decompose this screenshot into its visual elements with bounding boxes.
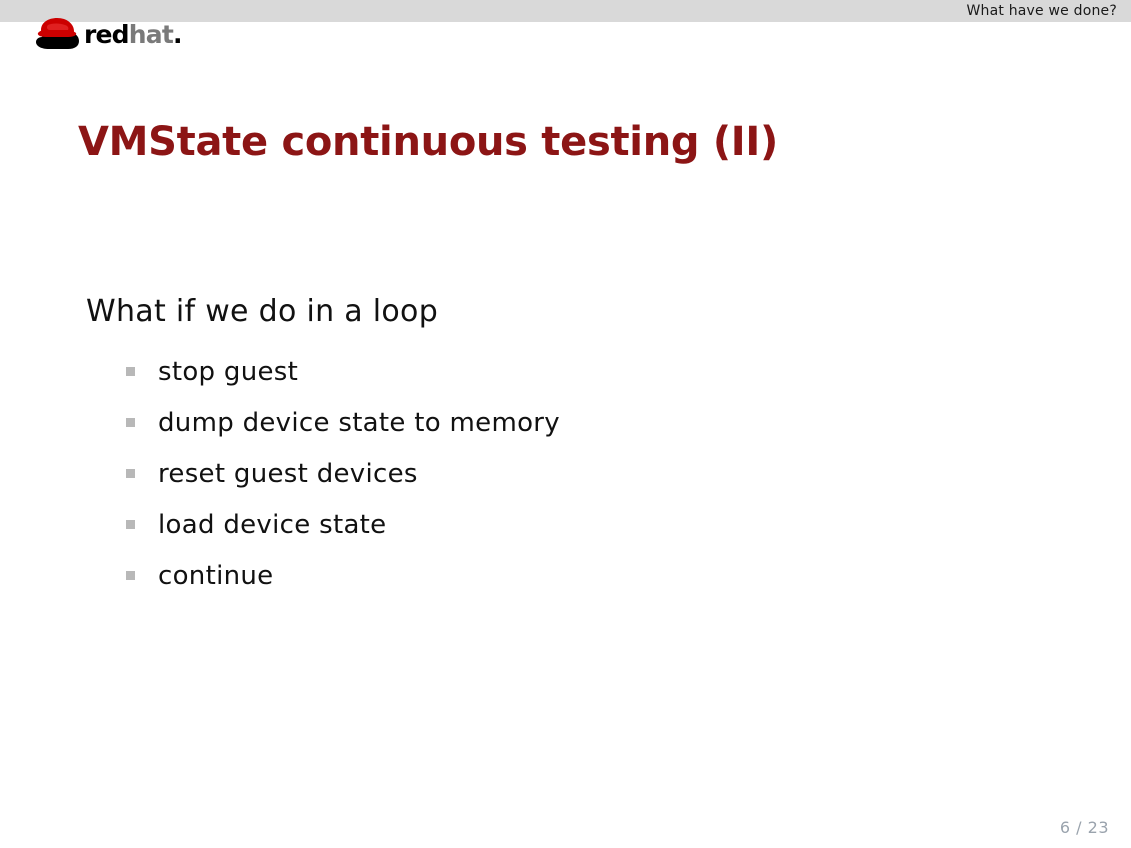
square-bullet-icon	[126, 520, 135, 529]
page-number: 6 / 23	[1060, 818, 1109, 838]
list-item: continue	[126, 559, 560, 610]
slide-body: What if we do in a loop stop guest dump …	[0, 0, 1131, 848]
square-bullet-icon	[126, 469, 135, 478]
list-item-label: dump device state to memory	[158, 406, 560, 440]
bullet-list: stop guest dump device state to memory r…	[126, 355, 560, 610]
list-item-label: stop guest	[158, 355, 298, 389]
list-item: reset guest devices	[126, 457, 560, 508]
list-item: dump device state to memory	[126, 406, 560, 457]
square-bullet-icon	[126, 367, 135, 376]
square-bullet-icon	[126, 571, 135, 580]
list-item-label: reset guest devices	[158, 457, 418, 491]
list-item-label: load device state	[158, 508, 386, 542]
presentation-slide: What have we done? redhat. VMState conti…	[0, 0, 1131, 848]
square-bullet-icon	[126, 418, 135, 427]
list-item: load device state	[126, 508, 560, 559]
lead-statement: What if we do in a loop	[86, 292, 438, 332]
list-item: stop guest	[126, 355, 560, 406]
list-item-label: continue	[158, 559, 273, 593]
